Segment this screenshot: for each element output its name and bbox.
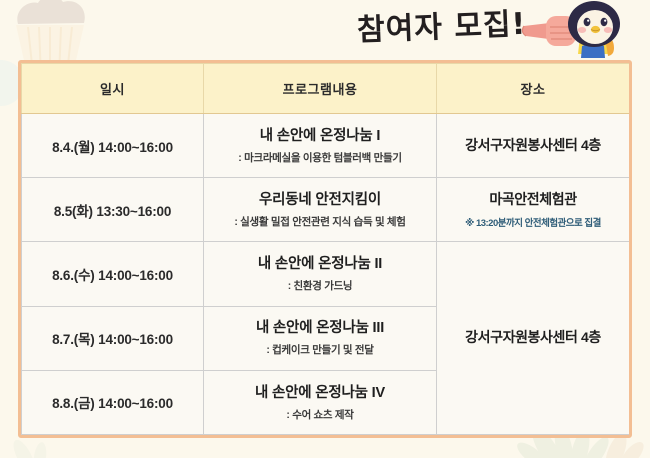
cell-date: 8.5(화) 13:30~16:00 (22, 178, 204, 242)
cell-place-merged: 강서구자원봉사센터 4층 (437, 242, 630, 435)
program-subtitle: : 친환경 가드닝 (208, 280, 432, 293)
cell-date: 8.7.(목) 14:00~16:00 (22, 306, 204, 370)
cell-place: 강서구자원봉사센터 4층 (437, 114, 630, 178)
place-name: 강서구자원봉사센터 4층 (441, 137, 625, 155)
program-subtitle: : 실생활 밀접 안전관련 지식 습득 및 체험 (208, 216, 432, 229)
table-header-row: 일시 프로그램내용 장소 (22, 64, 630, 114)
program-title: 내 손안에 온정나눔 III (208, 319, 432, 337)
program-subtitle: : 마크라메실을 이용한 텀블러백 만들기 (208, 152, 432, 165)
table-row: 8.6.(수) 14:00~16:00 내 손안에 온정나눔 II : 친환경 … (22, 242, 630, 306)
poster-headline-row: 참여자 모집! (0, 0, 650, 58)
table-row: 8.4.(월) 14:00~16:00 내 손안에 온정나눔 I : 마크라메실… (22, 114, 630, 178)
cell-date: 8.6.(수) 14:00~16:00 (22, 242, 204, 306)
cell-program: 내 손안에 온정나눔 IV : 수어 쇼츠 제작 (204, 370, 437, 434)
page-title: 참여자 모집! (356, 0, 527, 49)
place-name: 마곡안전체험관 (441, 191, 625, 209)
program-title: 우리동네 안전지킴이 (208, 191, 432, 209)
program-subtitle: : 컵케이크 만들기 및 전달 (208, 344, 432, 357)
column-header-place: 장소 (437, 64, 630, 114)
program-title: 내 손안에 온정나눔 IV (208, 384, 432, 402)
table-row: 8.5(화) 13:30~16:00 우리동네 안전지킴이 : 실생활 밀접 안… (22, 178, 630, 242)
program-title: 내 손안에 온정나눔 I (208, 127, 432, 145)
schedule-table: 일시 프로그램내용 장소 8.4.(월) 14:00~16:00 내 손안에 온… (21, 63, 630, 435)
penguin-mascot-icon (520, 0, 632, 60)
place-name-merged: 강서구자원봉사센터 4층 (441, 329, 625, 347)
place-note: ※ 13:20분까지 안전체험관으로 집결 (441, 215, 625, 229)
program-title: 내 손안에 온정나눔 II (208, 255, 432, 273)
table-body: 8.4.(월) 14:00~16:00 내 손안에 온정나눔 I : 마크라메실… (22, 114, 630, 435)
cell-program: 우리동네 안전지킴이 : 실생활 밀접 안전관련 지식 습득 및 체험 (204, 178, 437, 242)
cell-program: 내 손안에 온정나눔 I : 마크라메실을 이용한 텀블러백 만들기 (204, 114, 437, 178)
cell-date: 8.4.(월) 14:00~16:00 (22, 114, 204, 178)
schedule-table-container: 일시 프로그램내용 장소 8.4.(월) 14:00~16:00 내 손안에 온… (18, 60, 632, 438)
program-subtitle: : 수어 쇼츠 제작 (208, 409, 432, 422)
column-header-program: 프로그램내용 (204, 64, 437, 114)
cell-program: 내 손안에 온정나눔 II : 친환경 가드닝 (204, 242, 437, 306)
column-header-date: 일시 (22, 64, 204, 114)
cell-program: 내 손안에 온정나눔 III : 컵케이크 만들기 및 전달 (204, 306, 437, 370)
cell-date: 8.8.(금) 14:00~16:00 (22, 370, 204, 434)
table-header: 일시 프로그램내용 장소 (22, 64, 630, 114)
cell-place: 마곡안전체험관 ※ 13:20분까지 안전체험관으로 집결 (437, 178, 630, 242)
